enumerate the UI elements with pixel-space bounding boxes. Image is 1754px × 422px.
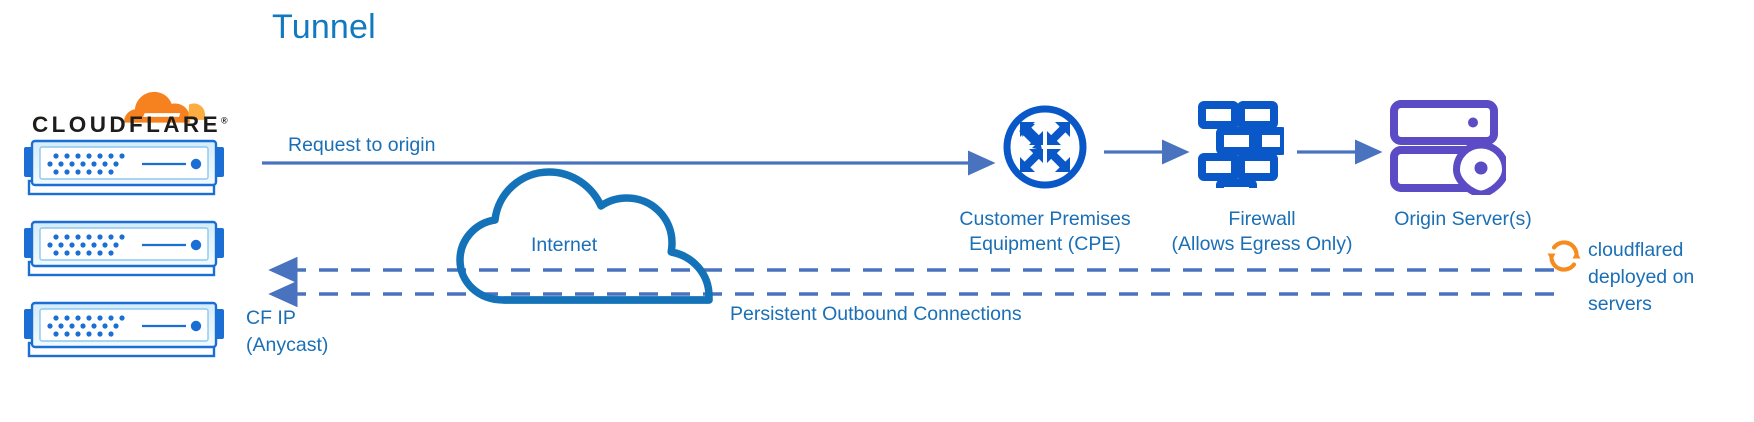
origin-line-1: Origin Server(s) [1348,207,1578,232]
cloudflare-server-unit-2 [24,220,229,282]
cloudflare-server-unit-1 [24,139,229,201]
cf-ip-anycast-label: CF IP (Anycast) [246,305,426,359]
brick-wall-icon [1196,100,1284,188]
sync-arrows-icon [1546,238,1582,274]
cpe-label: Customer Premises Equipment (CPE) [930,207,1160,257]
cloudflared-label: cloudflared deployed on servers [1588,237,1738,318]
cloudflare-wordmark-text: CLOUDFLARE [32,112,221,137]
server-location-pin-icon [1388,99,1506,195]
cloudflared-line-2: deployed on [1588,264,1738,291]
origin-server-label: Origin Server(s) [1348,207,1578,232]
trademark-symbol: ® [221,116,228,126]
cloudflare-server-unit-3 [24,301,229,363]
cloud-icon [446,140,726,310]
page-title: Tunnel [272,8,376,47]
persistent-outbound-connections-label: Persistent Outbound Connections [730,302,1022,327]
four-arrows-circle-icon [1002,104,1088,190]
cpe-line-2: Equipment (CPE) [930,232,1160,257]
request-to-origin-label: Request to origin [288,133,435,158]
cf-ip-line-2: (Anycast) [246,332,426,359]
tunnel-diagram: Tunnel CLOUDFLARE® [0,0,1754,422]
internet-label: Internet [531,233,597,258]
cf-ip-line-1: CF IP [246,305,426,332]
cloudflared-line-1: cloudflared [1588,237,1738,264]
cloudflared-line-3: servers [1588,291,1738,318]
firewall-line-1: Firewall [1152,207,1372,232]
firewall-line-2: (Allows Egress Only) [1152,232,1372,257]
cpe-line-1: Customer Premises [930,207,1160,232]
firewall-label: Firewall (Allows Egress Only) [1152,207,1372,257]
cloudflare-wordmark: CLOUDFLARE® [32,112,228,138]
